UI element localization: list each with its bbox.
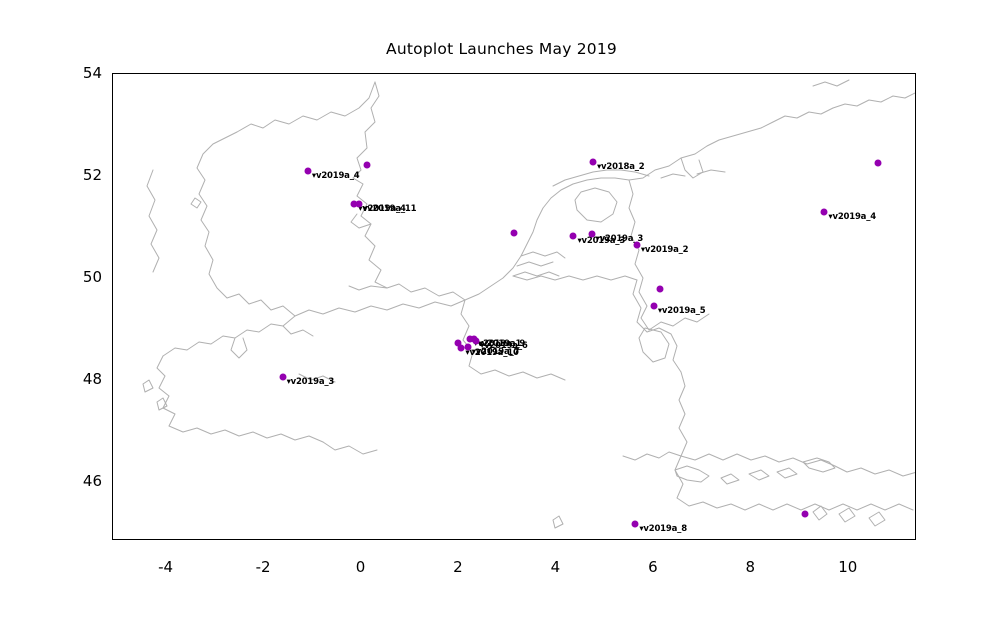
scatter-point-label: ▾v2018a_2 [597, 162, 645, 172]
x-tick-4 [556, 73, 557, 74]
scatter-point-label: ▾v2019a_3 [287, 377, 335, 387]
x-tick--1 [312, 73, 313, 74]
scatter-point[interactable] [588, 231, 595, 238]
x-tick-1 [410, 73, 411, 74]
x-tick-6 [653, 73, 654, 74]
y-tick-50 [112, 278, 113, 279]
y-tick-49 [112, 329, 113, 330]
scatter-point[interactable] [656, 286, 663, 293]
x-tick-label--2: -2 [256, 558, 271, 576]
x-tick-3 [507, 73, 508, 74]
scatter-point[interactable] [875, 160, 882, 167]
scatter-point[interactable] [364, 161, 371, 168]
scatter-point[interactable] [801, 510, 808, 517]
scatter-point[interactable] [473, 338, 480, 345]
x-tick-label-2: 2 [453, 558, 463, 576]
scatter-point[interactable] [589, 158, 596, 165]
x-tick-7 [702, 73, 703, 74]
x-tick-label-4: 4 [551, 558, 561, 576]
x-tick-9 [800, 73, 801, 74]
scatter-point[interactable] [464, 343, 471, 350]
y-tick-label-54: 54 [54, 64, 102, 82]
x-tick-label-6: 6 [648, 558, 658, 576]
scatter-point[interactable] [633, 241, 640, 248]
figure-canvas: Autoplot Launches May 2019 [0, 0, 1003, 633]
scatter-point[interactable] [570, 232, 577, 239]
scatter-point-label: ▾v2019a_11 [363, 204, 416, 214]
x-tick--2 [263, 73, 264, 74]
y-tick-45 [112, 533, 113, 534]
scatter-point-label: ▾v2019a_5 [658, 306, 706, 316]
map-plot-area[interactable]: ▾v2019a_4▾v2019a_4▾v2019a_11▾v2018a_2▾v2… [112, 73, 916, 540]
scatter-point[interactable] [650, 303, 657, 310]
x-tick-label-8: 8 [746, 558, 756, 576]
x-tick-5 [605, 73, 606, 74]
y-tick-47 [112, 431, 113, 432]
y-tick-label-46: 46 [54, 472, 102, 490]
scatter-point[interactable] [279, 374, 286, 381]
x-tick-2 [458, 73, 459, 74]
y-tick-label-52: 52 [54, 166, 102, 184]
y-tick-label-50: 50 [54, 268, 102, 286]
x-tick-label-10: 10 [838, 558, 857, 576]
y-tick-51 [112, 227, 113, 228]
x-tick-8 [751, 73, 752, 74]
scatter-point-label: ▾v2019a_2 [641, 245, 689, 255]
x-tick-label-0: 0 [356, 558, 366, 576]
y-tick-48 [112, 380, 113, 381]
scatter-point[interactable] [510, 230, 517, 237]
y-tick-54 [112, 74, 113, 75]
x-tick-0 [361, 73, 362, 74]
scatter-point[interactable] [632, 521, 639, 528]
x-tick-11 [897, 73, 898, 74]
x-tick--4 [166, 73, 167, 74]
y-tick-53 [112, 125, 113, 126]
scatter-point[interactable] [821, 208, 828, 215]
y-tick-46 [112, 482, 113, 483]
page-title: Autoplot Launches May 2019 [0, 40, 1003, 58]
scatter-point[interactable] [356, 201, 363, 208]
scatter-point-label: ▾v2019a_4 [312, 171, 360, 181]
y-tick-52 [112, 176, 113, 177]
scatter-point[interactable] [304, 167, 311, 174]
scatter-point-label: ▾v2019a_8 [639, 524, 687, 534]
scatter-point-label: ▾v2019a_4 [828, 212, 876, 222]
y-tick-label-48: 48 [54, 370, 102, 388]
x-tick-label--4: -4 [158, 558, 173, 576]
coastline-map [113, 74, 916, 540]
scatter-point-label: ▾v2019a_7 [472, 347, 520, 357]
x-tick--3 [215, 73, 216, 74]
x-tick-10 [848, 73, 849, 74]
